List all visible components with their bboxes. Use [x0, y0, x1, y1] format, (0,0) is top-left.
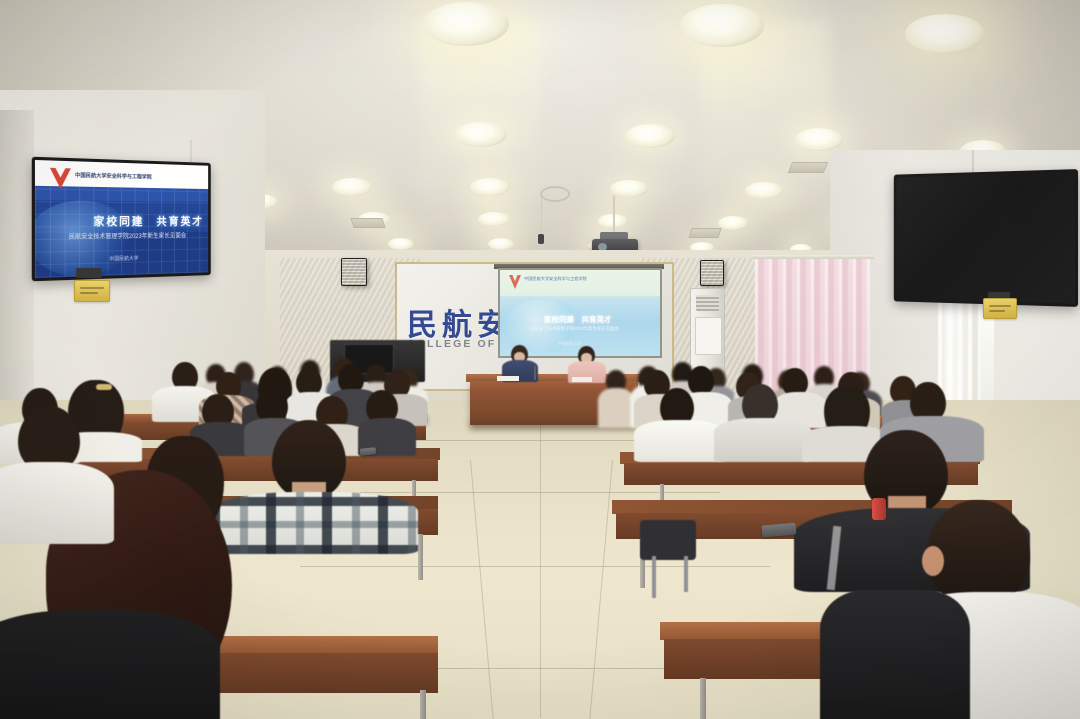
ceiling-downlight — [423, 2, 509, 46]
attendee-torso — [0, 462, 114, 544]
slide-subtitle: 民航安全技术管理学院2023年新生家长见面会 — [69, 231, 186, 241]
projector-mount-rod — [613, 196, 615, 234]
ceiling-downlight — [905, 14, 985, 54]
plaque-text-line — [989, 305, 1011, 307]
chair-leg — [684, 556, 688, 592]
attendee-torso — [598, 388, 634, 428]
wall-speaker-left — [341, 258, 367, 286]
ceiling-downlight — [388, 238, 414, 250]
attendee-torso — [820, 590, 970, 719]
ceiling-downlight — [610, 180, 648, 197]
slide-footer: 中国民航大学 — [109, 255, 138, 263]
wall-plaque-left — [74, 280, 110, 302]
chair-leg — [652, 556, 656, 598]
chair-back — [640, 520, 696, 560]
slide-title: 家校同建 共育英才 — [93, 213, 203, 229]
hanging-microphone-icon — [538, 234, 544, 244]
attendee-foreground-right-black — [820, 560, 980, 719]
desk-leg — [420, 690, 426, 719]
ceiling-downlight — [745, 182, 783, 199]
ceiling-downlight — [478, 212, 510, 226]
ceiling-downlight — [718, 216, 748, 230]
table-microphone-icon — [534, 366, 536, 380]
hair-clip-icon — [96, 384, 112, 390]
ceiling-downlight — [488, 238, 514, 250]
ceiling-downlight — [455, 122, 507, 147]
left-tv-screen: 中国民航大学安全科学与工程学院 家校同建 共育英才 民航安全技术管理学院2023… — [35, 160, 208, 278]
floor-tile-line — [470, 460, 494, 719]
left-tv[interactable]: 中国民航大学安全科学与工程学院 家校同建 共育英才 民航安全技术管理学院2023… — [32, 157, 211, 282]
table-document — [572, 377, 592, 382]
curtain-rod — [752, 255, 874, 259]
slide-logo-icon — [508, 274, 522, 290]
floor-tile-line — [300, 566, 770, 567]
microphone-cable — [541, 196, 542, 236]
ceiling-downlight — [470, 178, 510, 196]
conference-room-photo: 民航安 COLLEGE OF CIV 中国民航大学安全科学与工程学院 家校同建 … — [0, 0, 1080, 719]
ceiling-vent — [350, 218, 385, 228]
ceiling-vent — [788, 162, 828, 173]
slide-subtitle: 民航安全技术管理学院2023年新生家长见面会 — [530, 326, 619, 332]
tv-wall-mount-left — [76, 268, 102, 278]
plaque-text-line — [989, 310, 1005, 312]
ceiling-downlight — [625, 124, 675, 148]
attendee-torso — [0, 610, 220, 719]
wall-plaque-right — [983, 298, 1017, 319]
slide-logo-icon — [48, 166, 73, 192]
slide-header-band — [500, 270, 660, 296]
ceiling-downlight — [795, 128, 843, 151]
table-document — [497, 376, 519, 381]
slide-header-org: 中国民航大学安全科学与工程学院 — [524, 276, 587, 282]
slide-title: 家校同建 共育英才 — [544, 314, 612, 325]
plaque-text-line — [80, 292, 98, 294]
ceiling-vent — [689, 228, 722, 238]
ac-vent-icon — [696, 295, 719, 311]
projection-screen: 中国民航大学安全科学与工程学院 家校同建 共育英才 民航安全技术管理学院2023… — [500, 270, 660, 356]
ceiling-downlight — [680, 4, 764, 47]
floor-tile-line — [589, 460, 613, 719]
ceiling-smoke-detector — [540, 186, 570, 202]
ac-control-panel[interactable] — [695, 317, 722, 355]
desk-leg — [700, 678, 706, 719]
plaque-text-line — [80, 287, 104, 289]
attendee-foreground-left-shoulder — [0, 406, 120, 536]
right-tv-screen — [897, 172, 1075, 303]
drink-can[interactable] — [872, 498, 886, 520]
ceiling-downlight — [332, 178, 372, 196]
floor-tile-line — [540, 418, 541, 718]
right-tv[interactable] — [894, 169, 1078, 307]
wall-speaker-right — [700, 260, 724, 286]
